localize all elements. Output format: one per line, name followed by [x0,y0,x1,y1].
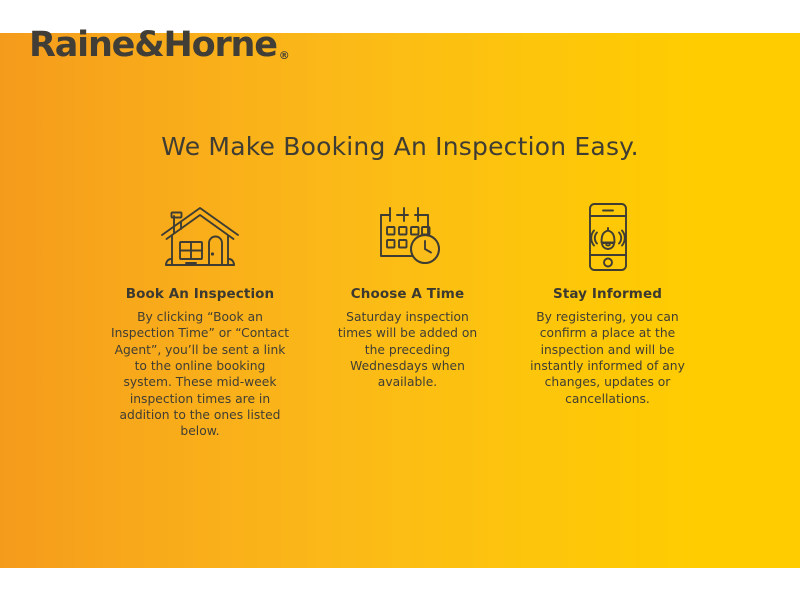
promo-poster: Raine&Horne ® We Make Booking An Inspect… [0,0,800,600]
house-icon [156,198,244,276]
feature-title: Book An Inspection [126,286,275,302]
calendar-clock-icon [371,198,445,276]
registered-trademark-icon: ® [279,50,290,61]
feature-body: By clicking “Book an Inspection Time” or… [110,309,290,440]
feature-body: Saturday inspection times will be added … [333,309,483,391]
feature-column-choose-a-time: Choose A Time Saturday inspection times … [333,198,483,391]
feature-columns: Book An Inspection By clicking “Book an … [110,198,690,440]
brand-logo: Raine&Horne ® [29,28,290,63]
feature-body: By registering, you can confirm a place … [525,309,690,407]
feature-column-stay-informed: Stay Informed By registering, you can co… [525,198,690,407]
page-title: We Make Booking An Inspection Easy. [0,132,800,161]
phone-bell-icon [581,198,635,276]
feature-title: Choose A Time [351,286,464,302]
feature-column-book-an-inspection: Book An Inspection By clicking “Book an … [110,198,290,440]
feature-title: Stay Informed [553,286,662,302]
brand-logo-text: Raine&Horne [29,28,277,63]
